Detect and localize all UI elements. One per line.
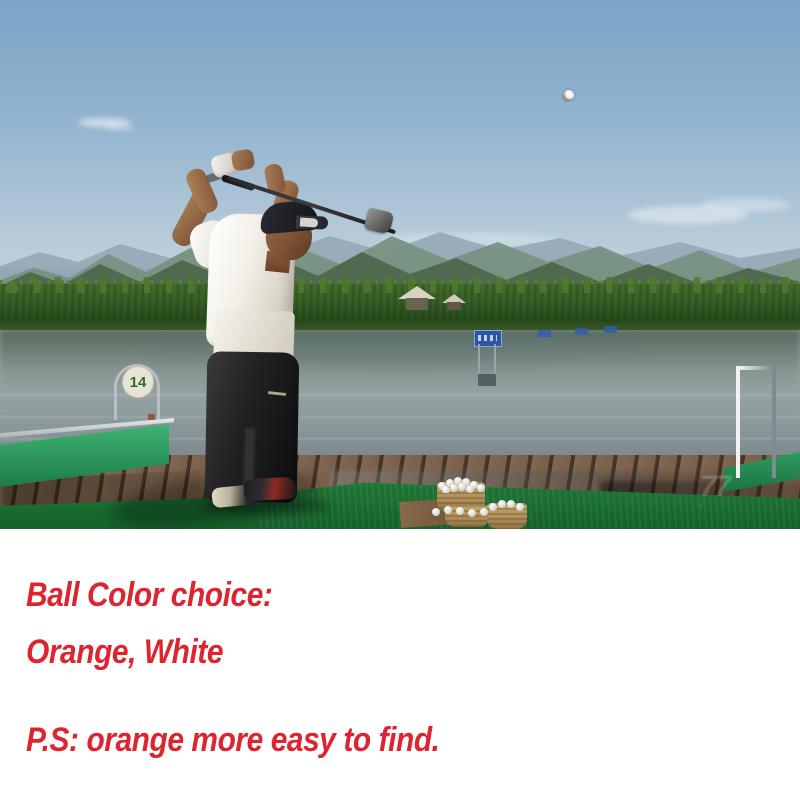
golfer-hand (230, 148, 255, 172)
marker-disc: 14 (122, 366, 154, 398)
golfer-shoe-right (243, 477, 296, 502)
bank-marker (575, 328, 588, 335)
caption-line-color-options: Orange, White (26, 633, 223, 672)
bay-number-label: 14 (130, 375, 147, 390)
thatched-hut-secondary (442, 294, 466, 310)
cloud (104, 124, 134, 130)
bay-number-marker: 14 (112, 362, 162, 422)
golf-balls-row (432, 506, 494, 516)
bank-marker (604, 326, 617, 333)
caption-panel: Ball Color choice: Orange, White P.S: or… (0, 529, 800, 800)
distance-marker-sign (474, 330, 500, 388)
hut-body (447, 302, 461, 310)
cap-brim-highlight (300, 217, 319, 227)
rail-bar (736, 366, 776, 478)
golf-driving-range-photo: 14 (0, 0, 800, 529)
caption-line-ps-note: P.S: orange more easy to find. (26, 721, 440, 760)
right-metal-rail (736, 366, 782, 484)
caption-line-ball-color-choice: Ball Color choice: (26, 576, 272, 615)
golf-balls-in-basket (437, 477, 485, 493)
cloud (700, 198, 790, 212)
golf-ball-in-flight-icon (563, 90, 574, 101)
sign-reflection (478, 374, 496, 386)
product-listing-image: 14 (0, 0, 800, 800)
bank-marker (538, 330, 551, 337)
